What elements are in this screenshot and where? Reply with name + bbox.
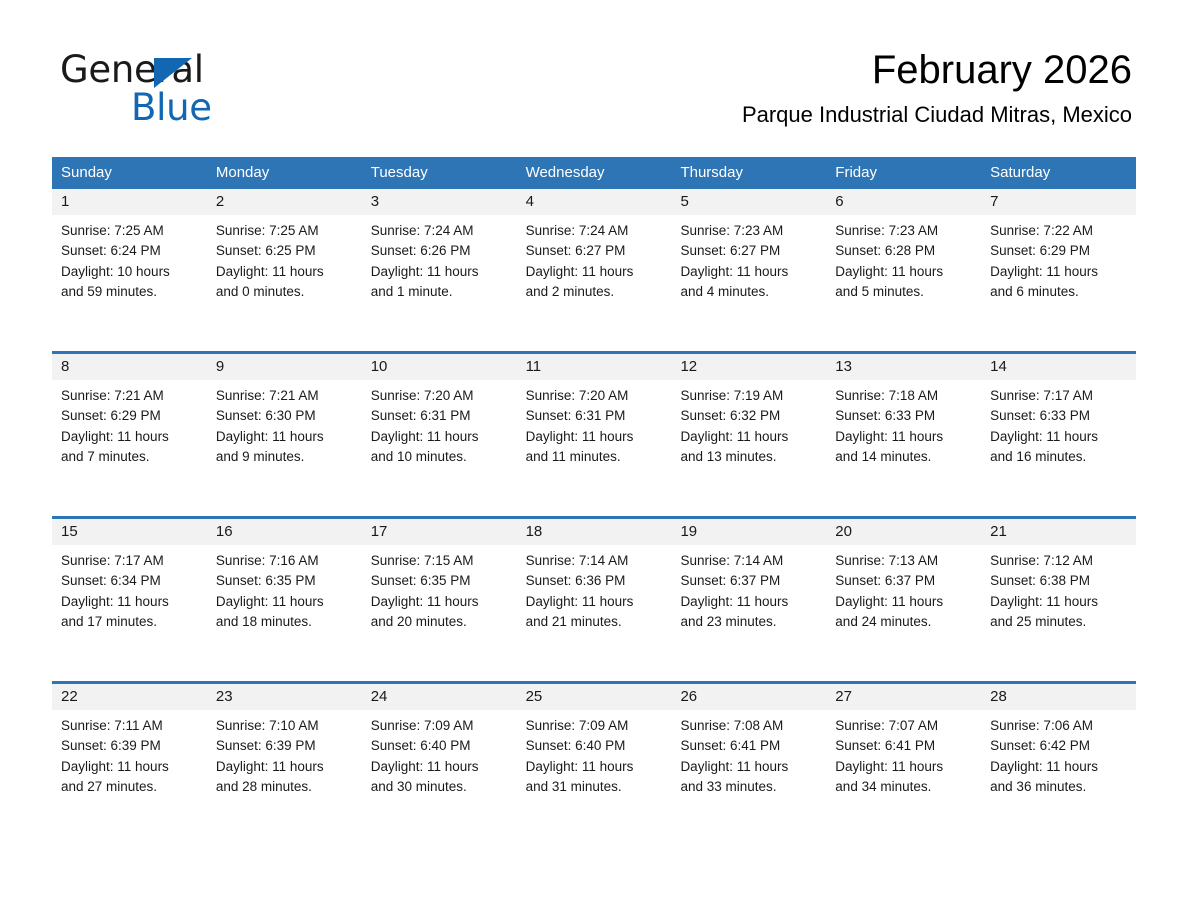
day-cell-21[interactable]: 21Sunrise: 7:12 AMSunset: 6:38 PMDayligh… bbox=[981, 519, 1136, 681]
day-cell-26[interactable]: 26Sunrise: 7:08 AMSunset: 6:41 PMDayligh… bbox=[671, 684, 826, 846]
day-number: 28 bbox=[981, 684, 1136, 710]
sunset-text: Sunset: 6:42 PM bbox=[990, 736, 1127, 756]
daylight-text-line1: Daylight: 11 hours bbox=[680, 757, 817, 777]
sunset-text: Sunset: 6:31 PM bbox=[526, 406, 663, 426]
day-number-band: 28 bbox=[981, 684, 1136, 710]
calendar-week-row: 1Sunrise: 7:25 AMSunset: 6:24 PMDaylight… bbox=[52, 189, 1136, 351]
sunset-text: Sunset: 6:39 PM bbox=[61, 736, 198, 756]
daylight-text-line1: Daylight: 11 hours bbox=[216, 262, 353, 282]
daylight-text-line2: and 23 minutes. bbox=[680, 612, 817, 632]
day-details: Sunrise: 7:14 AMSunset: 6:37 PMDaylight:… bbox=[671, 545, 826, 632]
daylight-text-line1: Daylight: 11 hours bbox=[990, 262, 1127, 282]
day-details: Sunrise: 7:09 AMSunset: 6:40 PMDaylight:… bbox=[362, 710, 517, 797]
sunrise-text: Sunrise: 7:09 AM bbox=[371, 716, 508, 736]
day-cell-23[interactable]: 23Sunrise: 7:10 AMSunset: 6:39 PMDayligh… bbox=[207, 684, 362, 846]
sunrise-text: Sunrise: 7:23 AM bbox=[680, 221, 817, 241]
sunrise-text: Sunrise: 7:24 AM bbox=[371, 221, 508, 241]
day-number-band: 4 bbox=[517, 189, 672, 215]
daylight-text-line1: Daylight: 11 hours bbox=[371, 262, 508, 282]
general-blue-logo: General Blue bbox=[60, 48, 320, 132]
daylight-text-line2: and 28 minutes. bbox=[216, 777, 353, 797]
day-details: Sunrise: 7:16 AMSunset: 6:35 PMDaylight:… bbox=[207, 545, 362, 632]
sunrise-text: Sunrise: 7:22 AM bbox=[990, 221, 1127, 241]
day-number-band: 19 bbox=[671, 519, 826, 545]
daylight-text-line2: and 1 minute. bbox=[371, 282, 508, 302]
page-title: February 2026 bbox=[742, 44, 1132, 96]
day-cell-8[interactable]: 8Sunrise: 7:21 AMSunset: 6:29 PMDaylight… bbox=[52, 354, 207, 516]
day-details: Sunrise: 7:08 AMSunset: 6:41 PMDaylight:… bbox=[671, 710, 826, 797]
title-block: February 2026 Parque Industrial Ciudad M… bbox=[742, 44, 1132, 130]
week-cells: 15Sunrise: 7:17 AMSunset: 6:34 PMDayligh… bbox=[52, 519, 1136, 681]
day-details: Sunrise: 7:07 AMSunset: 6:41 PMDaylight:… bbox=[826, 710, 981, 797]
daylight-text-line2: and 30 minutes. bbox=[371, 777, 508, 797]
sunrise-text: Sunrise: 7:17 AM bbox=[61, 551, 198, 571]
sunrise-text: Sunrise: 7:06 AM bbox=[990, 716, 1127, 736]
daylight-text-line1: Daylight: 11 hours bbox=[990, 757, 1127, 777]
sunrise-text: Sunrise: 7:25 AM bbox=[61, 221, 198, 241]
day-details: Sunrise: 7:23 AMSunset: 6:28 PMDaylight:… bbox=[826, 215, 981, 302]
sunset-text: Sunset: 6:30 PM bbox=[216, 406, 353, 426]
daylight-text-line2: and 0 minutes. bbox=[216, 282, 353, 302]
day-number-band: 27 bbox=[826, 684, 981, 710]
day-number-band: 15 bbox=[52, 519, 207, 545]
day-cell-17[interactable]: 17Sunrise: 7:15 AMSunset: 6:35 PMDayligh… bbox=[362, 519, 517, 681]
day-number-band: 17 bbox=[362, 519, 517, 545]
daylight-text-line1: Daylight: 11 hours bbox=[835, 592, 972, 612]
day-number-band: 3 bbox=[362, 189, 517, 215]
day-number-band: 26 bbox=[671, 684, 826, 710]
day-cell-28[interactable]: 28Sunrise: 7:06 AMSunset: 6:42 PMDayligh… bbox=[981, 684, 1136, 846]
daylight-text-line1: Daylight: 11 hours bbox=[680, 427, 817, 447]
logo-triangle-icon bbox=[154, 58, 192, 88]
day-cell-22[interactable]: 22Sunrise: 7:11 AMSunset: 6:39 PMDayligh… bbox=[52, 684, 207, 846]
day-details: Sunrise: 7:20 AMSunset: 6:31 PMDaylight:… bbox=[362, 380, 517, 467]
week-cells: 1Sunrise: 7:25 AMSunset: 6:24 PMDaylight… bbox=[52, 189, 1136, 351]
day-cell-10[interactable]: 10Sunrise: 7:20 AMSunset: 6:31 PMDayligh… bbox=[362, 354, 517, 516]
daylight-text-line1: Daylight: 11 hours bbox=[216, 757, 353, 777]
sunset-text: Sunset: 6:33 PM bbox=[835, 406, 972, 426]
day-number-band: 25 bbox=[517, 684, 672, 710]
sunrise-text: Sunrise: 7:24 AM bbox=[526, 221, 663, 241]
day-cell-7[interactable]: 7Sunrise: 7:22 AMSunset: 6:29 PMDaylight… bbox=[981, 189, 1136, 351]
day-cell-5[interactable]: 5Sunrise: 7:23 AMSunset: 6:27 PMDaylight… bbox=[671, 189, 826, 351]
day-number: 26 bbox=[671, 684, 826, 710]
sunrise-text: Sunrise: 7:16 AM bbox=[216, 551, 353, 571]
day-details: Sunrise: 7:10 AMSunset: 6:39 PMDaylight:… bbox=[207, 710, 362, 797]
day-number: 21 bbox=[981, 519, 1136, 545]
day-number: 27 bbox=[826, 684, 981, 710]
day-number-band: 21 bbox=[981, 519, 1136, 545]
day-number: 3 bbox=[362, 189, 517, 215]
day-details: Sunrise: 7:24 AMSunset: 6:26 PMDaylight:… bbox=[362, 215, 517, 302]
daylight-text-line1: Daylight: 11 hours bbox=[526, 427, 663, 447]
day-cell-24[interactable]: 24Sunrise: 7:09 AMSunset: 6:40 PMDayligh… bbox=[362, 684, 517, 846]
daylight-text-line1: Daylight: 11 hours bbox=[61, 757, 198, 777]
day-number-band: 13 bbox=[826, 354, 981, 380]
daylight-text-line2: and 17 minutes. bbox=[61, 612, 198, 632]
sunrise-text: Sunrise: 7:07 AM bbox=[835, 716, 972, 736]
sunrise-text: Sunrise: 7:12 AM bbox=[990, 551, 1127, 571]
day-cell-14[interactable]: 14Sunrise: 7:17 AMSunset: 6:33 PMDayligh… bbox=[981, 354, 1136, 516]
daylight-text-line2: and 33 minutes. bbox=[680, 777, 817, 797]
day-details: Sunrise: 7:23 AMSunset: 6:27 PMDaylight:… bbox=[671, 215, 826, 302]
day-number-band: 16 bbox=[207, 519, 362, 545]
daylight-text-line1: Daylight: 11 hours bbox=[216, 592, 353, 612]
daylight-text-line2: and 27 minutes. bbox=[61, 777, 198, 797]
daylight-text-line2: and 25 minutes. bbox=[990, 612, 1127, 632]
day-cell-6[interactable]: 6Sunrise: 7:23 AMSunset: 6:28 PMDaylight… bbox=[826, 189, 981, 351]
day-details: Sunrise: 7:11 AMSunset: 6:39 PMDaylight:… bbox=[52, 710, 207, 797]
daylight-text-line2: and 5 minutes. bbox=[835, 282, 972, 302]
daylight-text-line1: Daylight: 11 hours bbox=[371, 427, 508, 447]
daylight-text-line1: Daylight: 11 hours bbox=[526, 592, 663, 612]
day-number: 13 bbox=[826, 354, 981, 380]
sunset-text: Sunset: 6:29 PM bbox=[990, 241, 1127, 261]
daylight-text-line2: and 4 minutes. bbox=[680, 282, 817, 302]
daylight-text-line2: and 13 minutes. bbox=[680, 447, 817, 467]
day-cell-3[interactable]: 3Sunrise: 7:24 AMSunset: 6:26 PMDaylight… bbox=[362, 189, 517, 351]
sunset-text: Sunset: 6:28 PM bbox=[835, 241, 972, 261]
sunrise-text: Sunrise: 7:13 AM bbox=[835, 551, 972, 571]
daylight-text-line1: Daylight: 11 hours bbox=[835, 262, 972, 282]
daylight-text-line1: Daylight: 11 hours bbox=[371, 757, 508, 777]
daylight-text-line1: Daylight: 11 hours bbox=[526, 262, 663, 282]
sunset-text: Sunset: 6:37 PM bbox=[835, 571, 972, 591]
sunset-text: Sunset: 6:29 PM bbox=[61, 406, 198, 426]
daylight-text-line1: Daylight: 11 hours bbox=[680, 262, 817, 282]
day-details: Sunrise: 7:12 AMSunset: 6:38 PMDaylight:… bbox=[981, 545, 1136, 632]
day-number: 11 bbox=[517, 354, 672, 380]
day-number-band: 5 bbox=[671, 189, 826, 215]
calendar-week-row: 15Sunrise: 7:17 AMSunset: 6:34 PMDayligh… bbox=[52, 516, 1136, 681]
weekday-header-monday: Monday bbox=[207, 157, 362, 189]
sunset-text: Sunset: 6:38 PM bbox=[990, 571, 1127, 591]
day-number: 10 bbox=[362, 354, 517, 380]
day-number: 4 bbox=[517, 189, 672, 215]
sunrise-text: Sunrise: 7:19 AM bbox=[680, 386, 817, 406]
day-number-band: 20 bbox=[826, 519, 981, 545]
daylight-text-line1: Daylight: 11 hours bbox=[61, 427, 198, 447]
sunset-text: Sunset: 6:41 PM bbox=[680, 736, 817, 756]
daylight-text-line1: Daylight: 11 hours bbox=[216, 427, 353, 447]
weekday-header-sunday: Sunday bbox=[52, 157, 207, 189]
sunset-text: Sunset: 6:35 PM bbox=[216, 571, 353, 591]
day-number: 16 bbox=[207, 519, 362, 545]
daylight-text-line2: and 2 minutes. bbox=[526, 282, 663, 302]
day-details: Sunrise: 7:22 AMSunset: 6:29 PMDaylight:… bbox=[981, 215, 1136, 302]
daylight-text-line2: and 14 minutes. bbox=[835, 447, 972, 467]
day-cell-2[interactable]: 2Sunrise: 7:25 AMSunset: 6:25 PMDaylight… bbox=[207, 189, 362, 351]
daylight-text-line2: and 10 minutes. bbox=[371, 447, 508, 467]
daylight-text-line1: Daylight: 11 hours bbox=[835, 427, 972, 447]
day-cell-4[interactable]: 4Sunrise: 7:24 AMSunset: 6:27 PMDaylight… bbox=[517, 189, 672, 351]
day-cell-11[interactable]: 11Sunrise: 7:20 AMSunset: 6:31 PMDayligh… bbox=[517, 354, 672, 516]
daylight-text-line2: and 18 minutes. bbox=[216, 612, 353, 632]
sunrise-text: Sunrise: 7:17 AM bbox=[990, 386, 1127, 406]
day-number-band: 24 bbox=[362, 684, 517, 710]
calendar-page: General Blue February 2026 Parque Indust… bbox=[0, 0, 1188, 918]
day-number: 25 bbox=[517, 684, 672, 710]
sunrise-text: Sunrise: 7:20 AM bbox=[526, 386, 663, 406]
day-number: 8 bbox=[52, 354, 207, 380]
day-details: Sunrise: 7:24 AMSunset: 6:27 PMDaylight:… bbox=[517, 215, 672, 302]
day-details: Sunrise: 7:18 AMSunset: 6:33 PMDaylight:… bbox=[826, 380, 981, 467]
day-details: Sunrise: 7:20 AMSunset: 6:31 PMDaylight:… bbox=[517, 380, 672, 467]
daylight-text-line2: and 11 minutes. bbox=[526, 447, 663, 467]
daylight-text-line2: and 16 minutes. bbox=[990, 447, 1127, 467]
daylight-text-line1: Daylight: 11 hours bbox=[371, 592, 508, 612]
day-number-band: 6 bbox=[826, 189, 981, 215]
day-cell-1[interactable]: 1Sunrise: 7:25 AMSunset: 6:24 PMDaylight… bbox=[52, 189, 207, 351]
weekday-header-tuesday: Tuesday bbox=[362, 157, 517, 189]
day-details: Sunrise: 7:25 AMSunset: 6:24 PMDaylight:… bbox=[52, 215, 207, 302]
day-number: 7 bbox=[981, 189, 1136, 215]
day-number-band: 18 bbox=[517, 519, 672, 545]
sunset-text: Sunset: 6:31 PM bbox=[371, 406, 508, 426]
day-cell-18[interactable]: 18Sunrise: 7:14 AMSunset: 6:36 PMDayligh… bbox=[517, 519, 672, 681]
sunset-text: Sunset: 6:26 PM bbox=[371, 241, 508, 261]
day-number: 17 bbox=[362, 519, 517, 545]
day-cell-9[interactable]: 9Sunrise: 7:21 AMSunset: 6:30 PMDaylight… bbox=[207, 354, 362, 516]
calendar-weeks: 1Sunrise: 7:25 AMSunset: 6:24 PMDaylight… bbox=[52, 189, 1136, 846]
day-details: Sunrise: 7:15 AMSunset: 6:35 PMDaylight:… bbox=[362, 545, 517, 632]
weekday-header-thursday: Thursday bbox=[671, 157, 826, 189]
sunset-text: Sunset: 6:27 PM bbox=[526, 241, 663, 261]
page-subtitle: Parque Industrial Ciudad Mitras, Mexico bbox=[742, 100, 1132, 130]
daylight-text-line1: Daylight: 11 hours bbox=[680, 592, 817, 612]
day-number-band: 10 bbox=[362, 354, 517, 380]
daylight-text-line1: Daylight: 11 hours bbox=[835, 757, 972, 777]
daylight-text-line2: and 6 minutes. bbox=[990, 282, 1127, 302]
daylight-text-line1: Daylight: 11 hours bbox=[990, 592, 1127, 612]
sunrise-text: Sunrise: 7:20 AM bbox=[371, 386, 508, 406]
daylight-text-line2: and 24 minutes. bbox=[835, 612, 972, 632]
sunset-text: Sunset: 6:35 PM bbox=[371, 571, 508, 591]
week-cells: 8Sunrise: 7:21 AMSunset: 6:29 PMDaylight… bbox=[52, 354, 1136, 516]
weekday-header-row: SundayMondayTuesdayWednesdayThursdayFrid… bbox=[52, 157, 1136, 189]
sunset-text: Sunset: 6:37 PM bbox=[680, 571, 817, 591]
sunrise-text: Sunrise: 7:18 AM bbox=[835, 386, 972, 406]
calendar-grid: SundayMondayTuesdayWednesdayThursdayFrid… bbox=[52, 157, 1136, 846]
day-cell-25[interactable]: 25Sunrise: 7:09 AMSunset: 6:40 PMDayligh… bbox=[517, 684, 672, 846]
daylight-text-line2: and 7 minutes. bbox=[61, 447, 198, 467]
daylight-text-line2: and 20 minutes. bbox=[371, 612, 508, 632]
calendar-week-row: 8Sunrise: 7:21 AMSunset: 6:29 PMDaylight… bbox=[52, 351, 1136, 516]
day-number: 2 bbox=[207, 189, 362, 215]
day-number: 20 bbox=[826, 519, 981, 545]
weekday-header-saturday: Saturday bbox=[981, 157, 1136, 189]
sunset-text: Sunset: 6:40 PM bbox=[526, 736, 663, 756]
day-number-band: 2 bbox=[207, 189, 362, 215]
calendar-week-row: 22Sunrise: 7:11 AMSunset: 6:39 PMDayligh… bbox=[52, 681, 1136, 846]
sunrise-text: Sunrise: 7:10 AM bbox=[216, 716, 353, 736]
day-cell-20[interactable]: 20Sunrise: 7:13 AMSunset: 6:37 PMDayligh… bbox=[826, 519, 981, 681]
sunset-text: Sunset: 6:33 PM bbox=[990, 406, 1127, 426]
sunrise-text: Sunrise: 7:25 AM bbox=[216, 221, 353, 241]
day-number: 6 bbox=[826, 189, 981, 215]
day-number: 1 bbox=[52, 189, 207, 215]
sunrise-text: Sunrise: 7:14 AM bbox=[680, 551, 817, 571]
day-details: Sunrise: 7:13 AMSunset: 6:37 PMDaylight:… bbox=[826, 545, 981, 632]
day-number-band: 8 bbox=[52, 354, 207, 380]
day-cell-12[interactable]: 12Sunrise: 7:19 AMSunset: 6:32 PMDayligh… bbox=[671, 354, 826, 516]
day-number-band: 14 bbox=[981, 354, 1136, 380]
day-number: 24 bbox=[362, 684, 517, 710]
logo-text-blue: Blue bbox=[131, 86, 212, 130]
daylight-text-line2: and 21 minutes. bbox=[526, 612, 663, 632]
sunset-text: Sunset: 6:39 PM bbox=[216, 736, 353, 756]
sunrise-text: Sunrise: 7:21 AM bbox=[61, 386, 198, 406]
daylight-text-line2: and 34 minutes. bbox=[835, 777, 972, 797]
day-details: Sunrise: 7:25 AMSunset: 6:25 PMDaylight:… bbox=[207, 215, 362, 302]
day-cell-13[interactable]: 13Sunrise: 7:18 AMSunset: 6:33 PMDayligh… bbox=[826, 354, 981, 516]
day-number-band: 9 bbox=[207, 354, 362, 380]
page-header: General Blue February 2026 Parque Indust… bbox=[56, 44, 1132, 144]
sunset-text: Sunset: 6:34 PM bbox=[61, 571, 198, 591]
daylight-text-line2: and 31 minutes. bbox=[526, 777, 663, 797]
sunset-text: Sunset: 6:25 PM bbox=[216, 241, 353, 261]
sunrise-text: Sunrise: 7:15 AM bbox=[371, 551, 508, 571]
sunrise-text: Sunrise: 7:09 AM bbox=[526, 716, 663, 736]
day-number-band: 12 bbox=[671, 354, 826, 380]
day-details: Sunrise: 7:09 AMSunset: 6:40 PMDaylight:… bbox=[517, 710, 672, 797]
sunrise-text: Sunrise: 7:23 AM bbox=[835, 221, 972, 241]
day-details: Sunrise: 7:19 AMSunset: 6:32 PMDaylight:… bbox=[671, 380, 826, 467]
day-number: 12 bbox=[671, 354, 826, 380]
day-cell-16[interactable]: 16Sunrise: 7:16 AMSunset: 6:35 PMDayligh… bbox=[207, 519, 362, 681]
day-number: 19 bbox=[671, 519, 826, 545]
daylight-text-line2: and 59 minutes. bbox=[61, 282, 198, 302]
sunset-text: Sunset: 6:41 PM bbox=[835, 736, 972, 756]
daylight-text-line1: Daylight: 11 hours bbox=[990, 427, 1127, 447]
day-details: Sunrise: 7:14 AMSunset: 6:36 PMDaylight:… bbox=[517, 545, 672, 632]
sunrise-text: Sunrise: 7:14 AM bbox=[526, 551, 663, 571]
sunset-text: Sunset: 6:27 PM bbox=[680, 241, 817, 261]
day-number-band: 1 bbox=[52, 189, 207, 215]
day-number: 5 bbox=[671, 189, 826, 215]
day-number: 14 bbox=[981, 354, 1136, 380]
sunset-text: Sunset: 6:32 PM bbox=[680, 406, 817, 426]
weekday-header-friday: Friday bbox=[826, 157, 981, 189]
week-cells: 22Sunrise: 7:11 AMSunset: 6:39 PMDayligh… bbox=[52, 684, 1136, 846]
day-number: 18 bbox=[517, 519, 672, 545]
day-number: 22 bbox=[52, 684, 207, 710]
day-number-band: 11 bbox=[517, 354, 672, 380]
day-cell-19[interactable]: 19Sunrise: 7:14 AMSunset: 6:37 PMDayligh… bbox=[671, 519, 826, 681]
sunset-text: Sunset: 6:24 PM bbox=[61, 241, 198, 261]
day-details: Sunrise: 7:17 AMSunset: 6:34 PMDaylight:… bbox=[52, 545, 207, 632]
daylight-text-line1: Daylight: 10 hours bbox=[61, 262, 198, 282]
day-cell-15[interactable]: 15Sunrise: 7:17 AMSunset: 6:34 PMDayligh… bbox=[52, 519, 207, 681]
sunrise-text: Sunrise: 7:21 AM bbox=[216, 386, 353, 406]
day-number-band: 23 bbox=[207, 684, 362, 710]
sunrise-text: Sunrise: 7:08 AM bbox=[680, 716, 817, 736]
day-cell-27[interactable]: 27Sunrise: 7:07 AMSunset: 6:41 PMDayligh… bbox=[826, 684, 981, 846]
day-number: 15 bbox=[52, 519, 207, 545]
day-details: Sunrise: 7:06 AMSunset: 6:42 PMDaylight:… bbox=[981, 710, 1136, 797]
sunrise-text: Sunrise: 7:11 AM bbox=[61, 716, 198, 736]
day-details: Sunrise: 7:21 AMSunset: 6:29 PMDaylight:… bbox=[52, 380, 207, 467]
daylight-text-line2: and 9 minutes. bbox=[216, 447, 353, 467]
day-details: Sunrise: 7:17 AMSunset: 6:33 PMDaylight:… bbox=[981, 380, 1136, 467]
day-number-band: 7 bbox=[981, 189, 1136, 215]
daylight-text-line1: Daylight: 11 hours bbox=[526, 757, 663, 777]
day-number: 23 bbox=[207, 684, 362, 710]
day-details: Sunrise: 7:21 AMSunset: 6:30 PMDaylight:… bbox=[207, 380, 362, 467]
day-number: 9 bbox=[207, 354, 362, 380]
sunset-text: Sunset: 6:36 PM bbox=[526, 571, 663, 591]
daylight-text-line1: Daylight: 11 hours bbox=[61, 592, 198, 612]
sunset-text: Sunset: 6:40 PM bbox=[371, 736, 508, 756]
weekday-header-wednesday: Wednesday bbox=[517, 157, 672, 189]
daylight-text-line2: and 36 minutes. bbox=[990, 777, 1127, 797]
day-number-band: 22 bbox=[52, 684, 207, 710]
